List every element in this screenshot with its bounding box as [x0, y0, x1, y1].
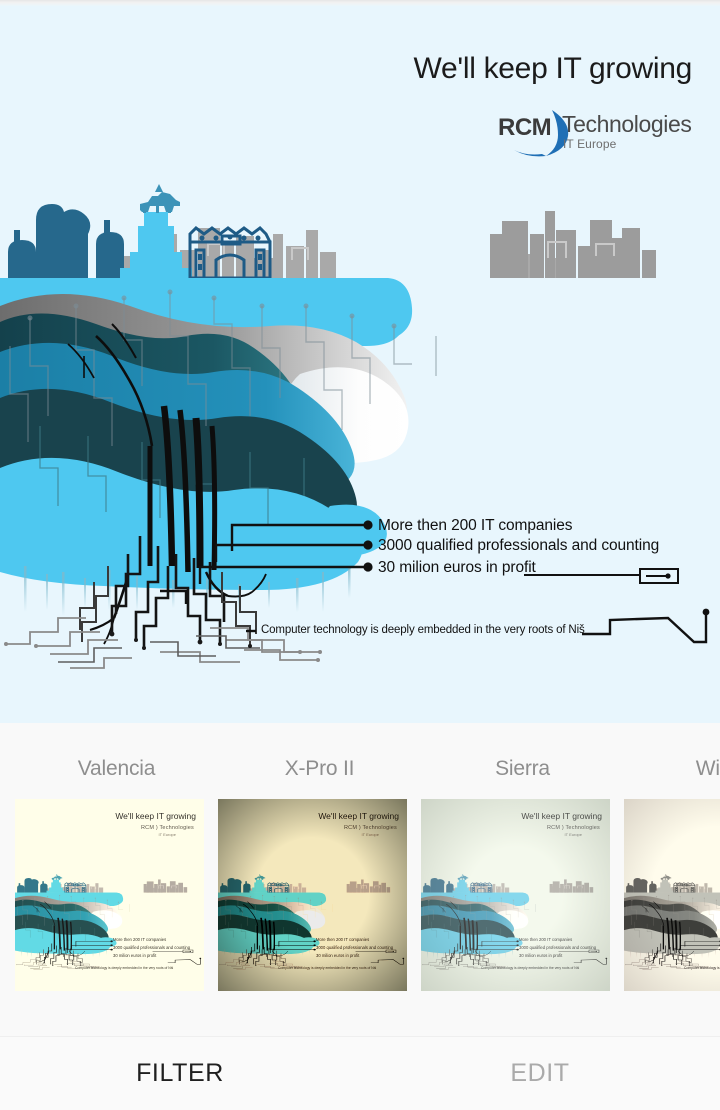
thumbnail-illustration [624, 839, 720, 977]
thumbnail-callout: 3000 qualified professionals and countin… [316, 945, 393, 950]
thumbnail-headline: We'll keep IT growing [115, 811, 196, 821]
skyline-group [626, 874, 720, 893]
filter-thumbnail-image: We'll keep IT growingRCM ) TechnologiesI… [218, 799, 407, 991]
filter-thumbnail[interactable]: We'll keep IT growingRCM ) TechnologiesI… [421, 799, 610, 991]
image-preview[interactable]: We'll keep IT growing RCM Technologies I… [0, 6, 720, 723]
profit-arrow-indicator [356, 950, 396, 953]
thumbnail-callout: More then 200 IT companies [316, 937, 369, 942]
photo-filter-screen: We'll keep IT growing RCM Technologies I… [0, 0, 720, 1110]
thumbnail-logo: RCM ) Technologies [141, 825, 194, 831]
tab-filter[interactable]: FILTER [0, 1037, 360, 1110]
filter-thumbnail-image: We'll keep IT growingRCM ) TechnologiesI… [15, 799, 204, 991]
thumbnail-logo: RCM ) Technologies [344, 825, 397, 831]
thumbnail-logo: RCM ) Technologies [547, 825, 600, 831]
tab-edit[interactable]: EDIT [360, 1037, 720, 1110]
thumbnail-callout: 3000 qualified professionals and countin… [113, 945, 190, 950]
callout-text-layer: More then 200 IT companies 3000 qualifie… [0, 6, 720, 723]
thumbnail-illustration [218, 839, 407, 977]
filter-item[interactable]: Valencia [15, 723, 218, 991]
thumbnail-callout: More then 200 IT companies [519, 937, 572, 942]
filter-label: Willow [624, 723, 720, 799]
thumbnail-logo-subtitle: IT Europe [362, 832, 380, 837]
thumbnail-headline: We'll keep IT growing [318, 811, 399, 821]
filter-item[interactable]: Willow [624, 723, 720, 991]
thumbnail-callout: Computer technology is deeply embedded i… [481, 966, 579, 970]
thumbnail-callout: Computer technology is deeply embedded i… [75, 966, 173, 970]
profit-arrow-indicator [559, 950, 599, 953]
skyline-group [220, 874, 390, 893]
roots-line-indicator [371, 959, 404, 965]
horse-statue [255, 874, 266, 880]
thumbnail-callout: 30 milion euros in profit [113, 953, 156, 958]
bottom-tabbar[interactable]: FILTER EDIT [0, 1036, 720, 1110]
filter-label: Sierra [421, 723, 624, 799]
filter-label: X-Pro II [218, 723, 421, 799]
filter-item[interactable]: Sierra [421, 723, 624, 991]
roots-line-indicator [574, 959, 607, 965]
thumbnail-illustration [15, 839, 204, 977]
thumbnail-callout: 30 milion euros in profit [316, 953, 359, 958]
skyline-group [423, 874, 593, 893]
thumbnail-logo-subtitle: IT Europe [159, 832, 177, 837]
filter-row[interactable]: Valencia [0, 723, 720, 991]
horse-statue [661, 874, 672, 880]
filter-label: Valencia [15, 723, 218, 799]
skyline-group [17, 874, 187, 893]
filter-item[interactable]: X-Pro II [218, 723, 421, 991]
thumbnail-illustration [421, 839, 610, 977]
roots-line-indicator [168, 959, 201, 965]
callout-companies: More then 200 IT companies [378, 517, 572, 535]
thumbnail-logo-subtitle: IT Europe [565, 832, 583, 837]
filter-thumbnail[interactable]: We'll keep IT growingRCM ) TechnologiesI… [218, 799, 407, 991]
horse-statue [52, 874, 63, 880]
callout-professionals: 3000 qualified professionals and countin… [378, 537, 659, 555]
horse-statue [458, 874, 469, 880]
profit-arrow-indicator [153, 950, 193, 953]
filter-thumbnail[interactable]: We'll keep IT growingRCM ) TechnologiesI… [624, 799, 720, 991]
thumbnail-callout: Computer technology is deeply embedded i… [684, 966, 720, 970]
thumbnail-callout: More then 200 IT companies [113, 937, 166, 942]
thumbnail-callout: Computer technology is deeply embedded i… [278, 966, 376, 970]
thumbnail-callout: 3000 qualified professionals and countin… [519, 945, 596, 950]
thumbnail-callout: 30 milion euros in profit [519, 953, 562, 958]
callout-profit: 30 milion euros in profit [378, 559, 536, 577]
thumbnail-headline: We'll keep IT growing [521, 811, 602, 821]
filter-thumbnail-image: We'll keep IT growingRCM ) TechnologiesI… [421, 799, 610, 991]
callout-roots: Computer technology is deeply embedded i… [261, 624, 585, 636]
filter-carousel[interactable]: Valencia [0, 723, 720, 1036]
filter-thumbnail[interactable]: We'll keep IT growingRCM ) TechnologiesI… [15, 799, 204, 991]
filter-thumbnail-image: We'll keep IT growingRCM ) TechnologiesI… [624, 799, 720, 991]
